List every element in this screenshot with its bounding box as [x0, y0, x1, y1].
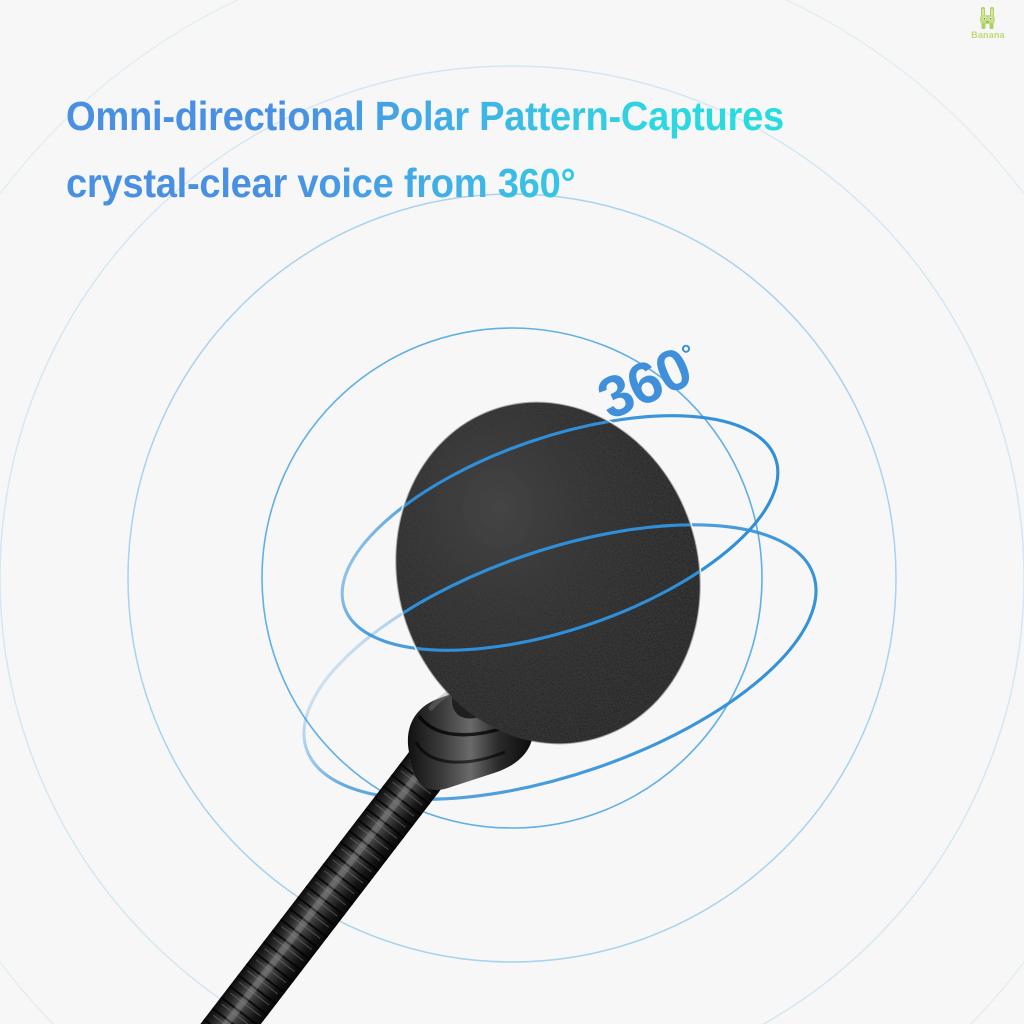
orbit-ellipse-lower-back — [270, 469, 850, 855]
orbit-rings-behind — [270, 368, 850, 855]
orbit-ellipse-lower-front — [270, 469, 850, 855]
orbit-rings-front — [270, 368, 850, 855]
gooseneck-arm — [176, 723, 470, 1024]
product-feature-image: Omni-directional Polar Pattern-Captures … — [0, 0, 1024, 1024]
brand-name: Banana — [960, 31, 1016, 40]
ring-outer-2 — [262, 328, 762, 828]
orbit-ellipse-upper-front — [313, 368, 807, 698]
orbit-ellipse-upper-back — [313, 368, 807, 698]
foam-windscreen — [356, 366, 739, 779]
bunny-icon — [976, 6, 1000, 32]
gooseneck-ribs — [178, 731, 463, 1024]
mic-collar — [408, 643, 556, 790]
brand-watermark: Banana — [960, 6, 1016, 40]
degree-callout: 360° — [588, 330, 710, 434]
ring-outer-3 — [128, 194, 896, 962]
headline: Omni-directional Polar Pattern-Captures … — [66, 83, 931, 216]
